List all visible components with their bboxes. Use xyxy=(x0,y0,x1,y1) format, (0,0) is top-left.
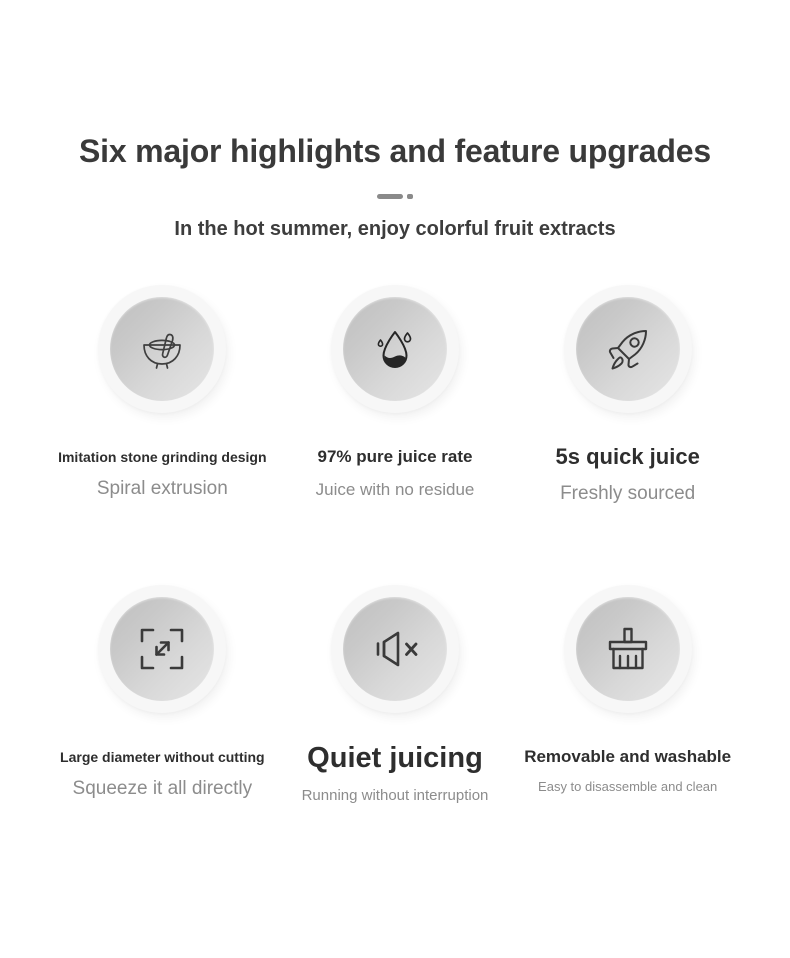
feature-item-3: 5s quick juice Freshly sourced xyxy=(511,285,744,585)
divider-dash-icon xyxy=(377,194,403,199)
feature-title-3: 5s quick juice xyxy=(556,444,700,470)
feature-item-4: Large diameter without cutting Squeeze i… xyxy=(46,585,279,885)
badge-inner-5 xyxy=(343,597,447,701)
mute-speaker-icon xyxy=(368,627,422,671)
feature-subtitle-6: Easy to disassemble and clean xyxy=(538,779,717,795)
feature-item-6: Removable and washable Easy to disassemb… xyxy=(511,585,744,885)
badge-inner-2 xyxy=(343,297,447,401)
feature-subtitle-3: Freshly sourced xyxy=(560,482,695,506)
feature-labels-6: Removable and washable Easy to disassemb… xyxy=(511,735,744,795)
feature-labels-4: Large diameter without cutting Squeeze i… xyxy=(46,735,279,801)
badge-inner-6 xyxy=(576,597,680,701)
page-header: Six major highlights and feature upgrade… xyxy=(0,0,790,241)
mortar-and-pestle-icon xyxy=(136,326,188,372)
feature-item-2: 97% pure juice rate Juice with no residu… xyxy=(279,285,512,585)
expand-arrows-icon xyxy=(137,624,187,674)
feature-item-1: Imitation stone grinding design Spiral e… xyxy=(46,285,279,585)
feature-labels-5: Quiet juicing Running without interrupti… xyxy=(279,735,512,806)
water-droplet-icon xyxy=(372,324,418,374)
feature-badge-5 xyxy=(331,585,459,713)
feature-subtitle-2: Juice with no residue xyxy=(316,479,475,500)
feature-subtitle-1: Spiral extrusion xyxy=(97,477,228,501)
divider-dot-icon xyxy=(407,194,413,199)
feature-grid: Imitation stone grinding design Spiral e… xyxy=(0,285,790,885)
feature-labels-3: 5s quick juice Freshly sourced xyxy=(511,435,744,506)
feature-title-5: Quiet juicing xyxy=(307,741,483,775)
feature-item-5: Quiet juicing Running without interrupti… xyxy=(279,585,512,885)
feature-title-6: Removable and washable xyxy=(524,747,731,767)
feature-badge-6 xyxy=(564,585,692,713)
feature-subtitle-4: Squeeze it all directly xyxy=(73,777,253,801)
title-divider xyxy=(0,192,790,202)
feature-subtitle-5: Running without interruption xyxy=(302,787,489,806)
feature-title-4: Large diameter without cutting xyxy=(60,749,265,766)
page-subtitle: In the hot summer, enjoy colorful fruit … xyxy=(0,218,790,241)
feature-badge-3 xyxy=(564,285,692,413)
feature-labels-2: 97% pure juice rate Juice with no residu… xyxy=(279,435,512,500)
feature-highlights-page: Six major highlights and feature upgrade… xyxy=(0,0,790,958)
feature-labels-1: Imitation stone grinding design Spiral e… xyxy=(46,435,279,501)
broom-icon xyxy=(605,624,651,674)
feature-title-2: 97% pure juice rate xyxy=(318,447,473,467)
feature-title-1: Imitation stone grinding design xyxy=(58,449,266,466)
page-title: Six major highlights and feature upgrade… xyxy=(0,133,790,170)
feature-badge-4 xyxy=(98,585,226,713)
badge-inner-3 xyxy=(576,297,680,401)
feature-badge-2 xyxy=(331,285,459,413)
feature-badge-1 xyxy=(98,285,226,413)
badge-inner-4 xyxy=(110,597,214,701)
badge-inner-1 xyxy=(110,297,214,401)
rocket-icon xyxy=(602,323,654,375)
